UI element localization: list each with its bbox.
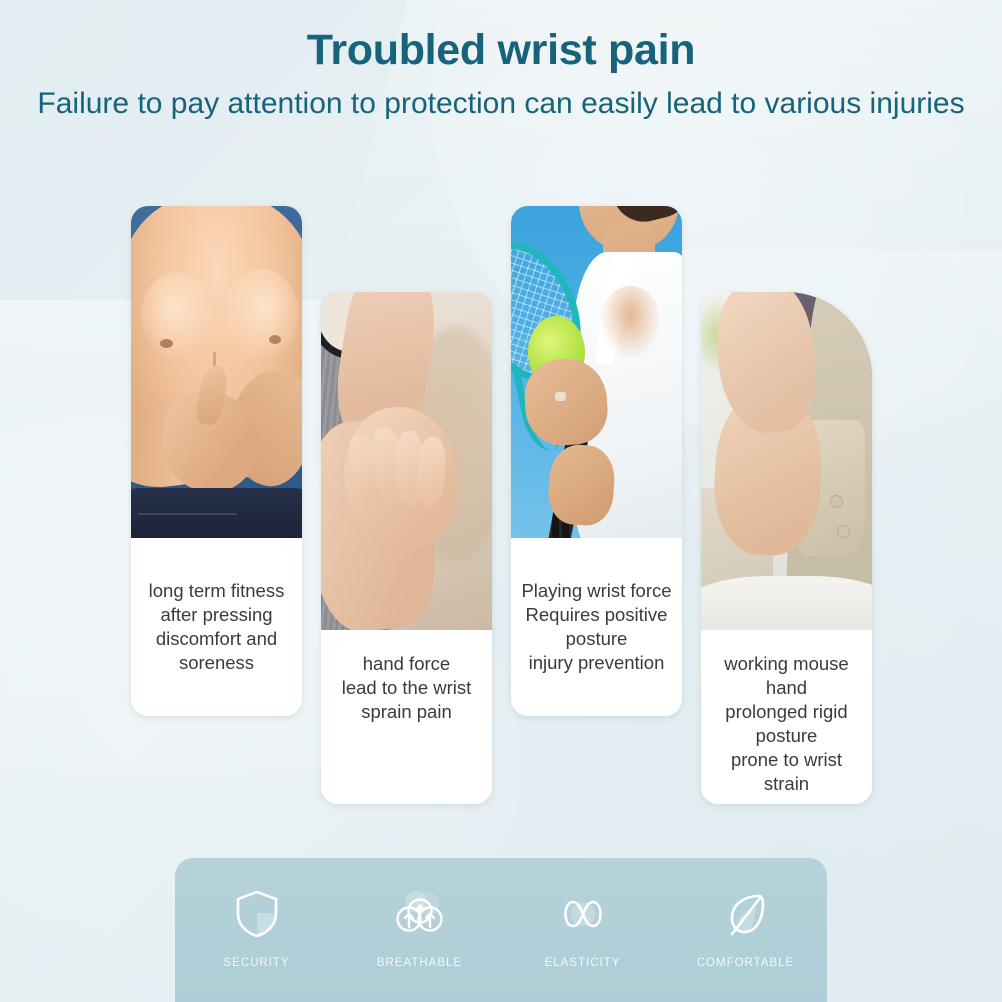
info-card-hand-force[interactable]: hand force lead to the wrist sprain pain [321,292,492,804]
breathable-arrows-icon [394,888,446,940]
info-card-tennis[interactable]: Playing wrist force Requires positive po… [511,206,682,716]
photo-scene-mouse-hand [701,292,872,630]
card-caption-hand-force: hand force lead to the wrist sprain pain [334,652,480,724]
photo-scene-hand-force [321,292,492,630]
infographic-page: Troubled wrist pain Failure to pay atten… [0,0,1002,1002]
photo-scene-fitness [131,206,302,538]
photo-scene-tennis [511,206,682,538]
feature-bar: SECURITY BREATHABLE [175,858,827,1002]
card-caption-box-hand-force: hand force lead to the wrist sprain pain [321,630,492,804]
card-caption-box-fitness: long term fitness after pressing discomf… [131,538,302,716]
shield-icon [231,888,283,940]
page-subtitle: Failure to pay attention to protection c… [0,84,1002,123]
feature-label-elasticity: ELASTICITY [545,957,621,969]
card-photo-fitness [131,206,302,538]
card-caption-box-mouse-hand: working mouse hand prolonged rigid postu… [701,630,872,804]
elasticity-icon [557,888,609,940]
feature-label-breathable: BREATHABLE [377,957,462,969]
leaf-icon [720,888,772,940]
card-caption-fitness: long term fitness after pressing discomf… [141,579,293,675]
feature-label-comfortable: COMFORTABLE [697,957,794,969]
card-caption-box-tennis: Playing wrist force Requires positive po… [511,538,682,716]
feature-breathable[interactable]: BREATHABLE [345,888,495,969]
feature-comfortable[interactable]: COMFORTABLE [671,888,821,969]
feature-label-security: SECURITY [223,957,289,969]
info-card-fitness[interactable]: long term fitness after pressing discomf… [131,206,302,716]
card-photo-hand-force [321,292,492,630]
card-caption-mouse-hand: working mouse hand prolonged rigid postu… [716,652,856,796]
header-block: Troubled wrist pain Failure to pay atten… [0,26,1002,123]
card-photo-mouse-hand [701,292,872,630]
info-card-mouse-hand[interactable]: working mouse hand prolonged rigid postu… [701,292,872,804]
card-caption-tennis: Playing wrist force Requires positive po… [513,579,679,675]
page-title: Troubled wrist pain [0,26,1002,74]
card-photo-tennis [511,206,682,538]
feature-elasticity[interactable]: ELASTICITY [508,888,658,969]
feature-security[interactable]: SECURITY [182,888,332,969]
